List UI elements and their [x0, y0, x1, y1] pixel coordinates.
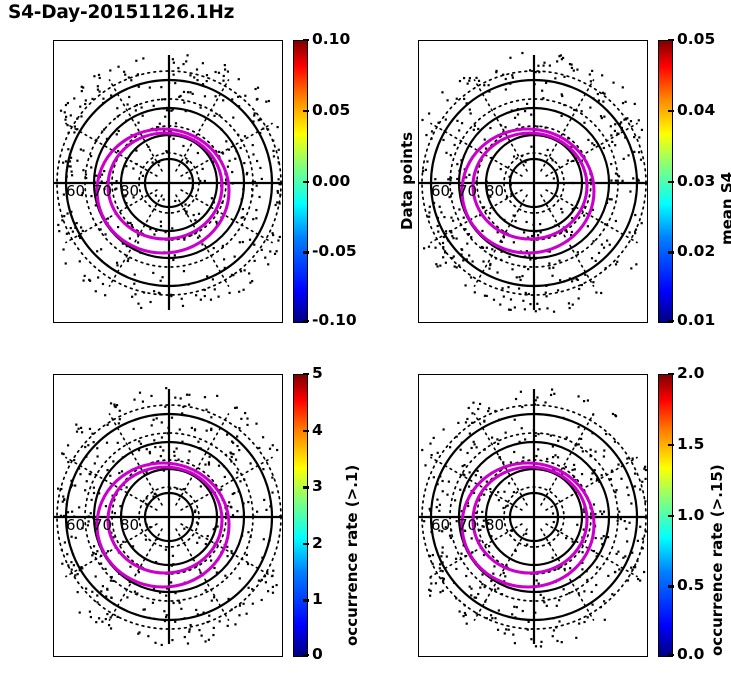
- colorbar-tick-label-1-2: 0.03: [677, 174, 715, 190]
- colorbar-tick-3-2: [668, 515, 674, 517]
- colorbar-tick-1-1: [668, 110, 674, 112]
- colorbar-tick-label-0-4: -0.10: [312, 313, 357, 329]
- colorbar-top-right: mean S4 0.050.040.030.020.01: [658, 40, 728, 323]
- axes-box-0[interactable]: 607080: [53, 40, 283, 323]
- colorbar-tick-3-3: [668, 585, 674, 587]
- radial-tick-label: 60: [431, 182, 450, 200]
- colorbar-title-1: mean S4: [718, 172, 731, 245]
- colorbar-tick-0-2: [303, 181, 309, 183]
- colorbar-tick-2-1: [303, 430, 309, 432]
- colorbar-tick-label-2-5: 0: [312, 647, 323, 663]
- colorbar-tick-label-0-3: -0.05: [312, 244, 357, 260]
- radial-tick-label: 80: [485, 182, 504, 200]
- colorbar-tick-label-0-2: 0.00: [312, 174, 350, 190]
- axes-box-3[interactable]: 607080: [418, 374, 648, 657]
- colorbar-bottom-left: occurrence rate (>.1) 543210: [293, 374, 363, 657]
- colorbar-bottom-right: occurrence rate (>.15) 2.01.51.00.50.0: [658, 374, 728, 657]
- colorbar-tick-0-4: [303, 320, 309, 322]
- colorbar-tick-3-1: [668, 444, 674, 446]
- colorbar-tick-0-0: [303, 39, 309, 41]
- colorbar-tick-3-0: [668, 373, 674, 375]
- colorbar-tick-1-0: [668, 39, 674, 41]
- radial-tick-label: 60: [66, 182, 85, 200]
- polar-plot-0[interactable]: 607080: [54, 41, 283, 323]
- colorbar-tick-label-0-0: 0.10: [312, 32, 350, 48]
- colorbar-title-2: occurrence rate (>.1): [343, 465, 361, 646]
- colorbar-tick-label-3-2: 1.0: [677, 508, 704, 524]
- colorbar-tick-label-1-3: 0.02: [677, 244, 715, 260]
- radial-tick-label: 70: [93, 182, 112, 200]
- radial-tick-label: 80: [120, 516, 139, 534]
- radial-tick-label: 70: [458, 182, 477, 200]
- polar-plot-1[interactable]: 607080: [419, 41, 648, 323]
- panel-top-left: 607080: [53, 40, 283, 323]
- colorbar-tick-2-0: [303, 373, 309, 375]
- colorbar-tick-1-4: [668, 320, 674, 322]
- radial-tick-label: 70: [458, 516, 477, 534]
- colorbar-tick-label-1-0: 0.05: [677, 32, 715, 48]
- axes-box-2[interactable]: 607080: [53, 374, 283, 657]
- polar-plot-2[interactable]: 607080: [54, 375, 283, 657]
- colorbar-tick-label-0-1: 0.05: [312, 103, 350, 119]
- colorbar-tick-1-3: [668, 251, 674, 253]
- radial-tick-label: 80: [120, 182, 139, 200]
- colorbar-tick-2-5: [303, 654, 309, 656]
- colorbar-tick-label-3-1: 1.5: [677, 437, 704, 453]
- colorbar-gradient-2[interactable]: [293, 374, 308, 657]
- colorbar-tick-label-3-0: 2.0: [677, 366, 704, 382]
- colorbar-tick-2-3: [303, 543, 309, 545]
- colorbar-tick-label-2-2: 3: [312, 479, 323, 495]
- panel-bottom-right: 607080: [418, 374, 648, 657]
- colorbar-tick-label-2-0: 5: [312, 366, 323, 382]
- radial-tick-label: 70: [93, 516, 112, 534]
- colorbar-tick-label-2-1: 4: [312, 423, 323, 439]
- colorbar-tick-label-3-4: 0.0: [677, 647, 704, 663]
- colorbar-tick-3-4: [668, 654, 674, 656]
- figure-root: S4-Day-20151126.1Hz 607080 0.100.050.00-…: [0, 0, 731, 674]
- colorbar-tick-label-3-3: 0.5: [677, 578, 704, 594]
- panel-bottom-left: 607080: [53, 374, 283, 657]
- colorbar-tick-label-1-1: 0.04: [677, 103, 715, 119]
- colorbar-tick-0-3: [303, 251, 309, 253]
- y-axis-label-data-points: Data points: [398, 132, 416, 230]
- colorbar-top-left: 0.100.050.00-0.05-0.10: [293, 40, 363, 323]
- figure-title: S4-Day-20151126.1Hz: [8, 2, 234, 23]
- polar-plot-3[interactable]: 607080: [419, 375, 648, 657]
- colorbar-tick-1-2: [668, 181, 674, 183]
- colorbar-tick-2-4: [303, 599, 309, 601]
- colorbar-tick-label-1-4: 0.01: [677, 313, 715, 329]
- radial-tick-label: 60: [431, 516, 450, 534]
- colorbar-tick-label-2-4: 1: [312, 592, 323, 608]
- radial-tick-label: 60: [66, 516, 85, 534]
- panel-top-right: 607080: [418, 40, 648, 323]
- colorbar-tick-2-2: [303, 486, 309, 488]
- colorbar-tick-0-1: [303, 110, 309, 112]
- axes-box-1[interactable]: 607080: [418, 40, 648, 323]
- colorbar-tick-label-2-3: 2: [312, 536, 323, 552]
- radial-tick-label: 80: [485, 516, 504, 534]
- colorbar-title-3: occurrence rate (>.15): [708, 464, 726, 656]
